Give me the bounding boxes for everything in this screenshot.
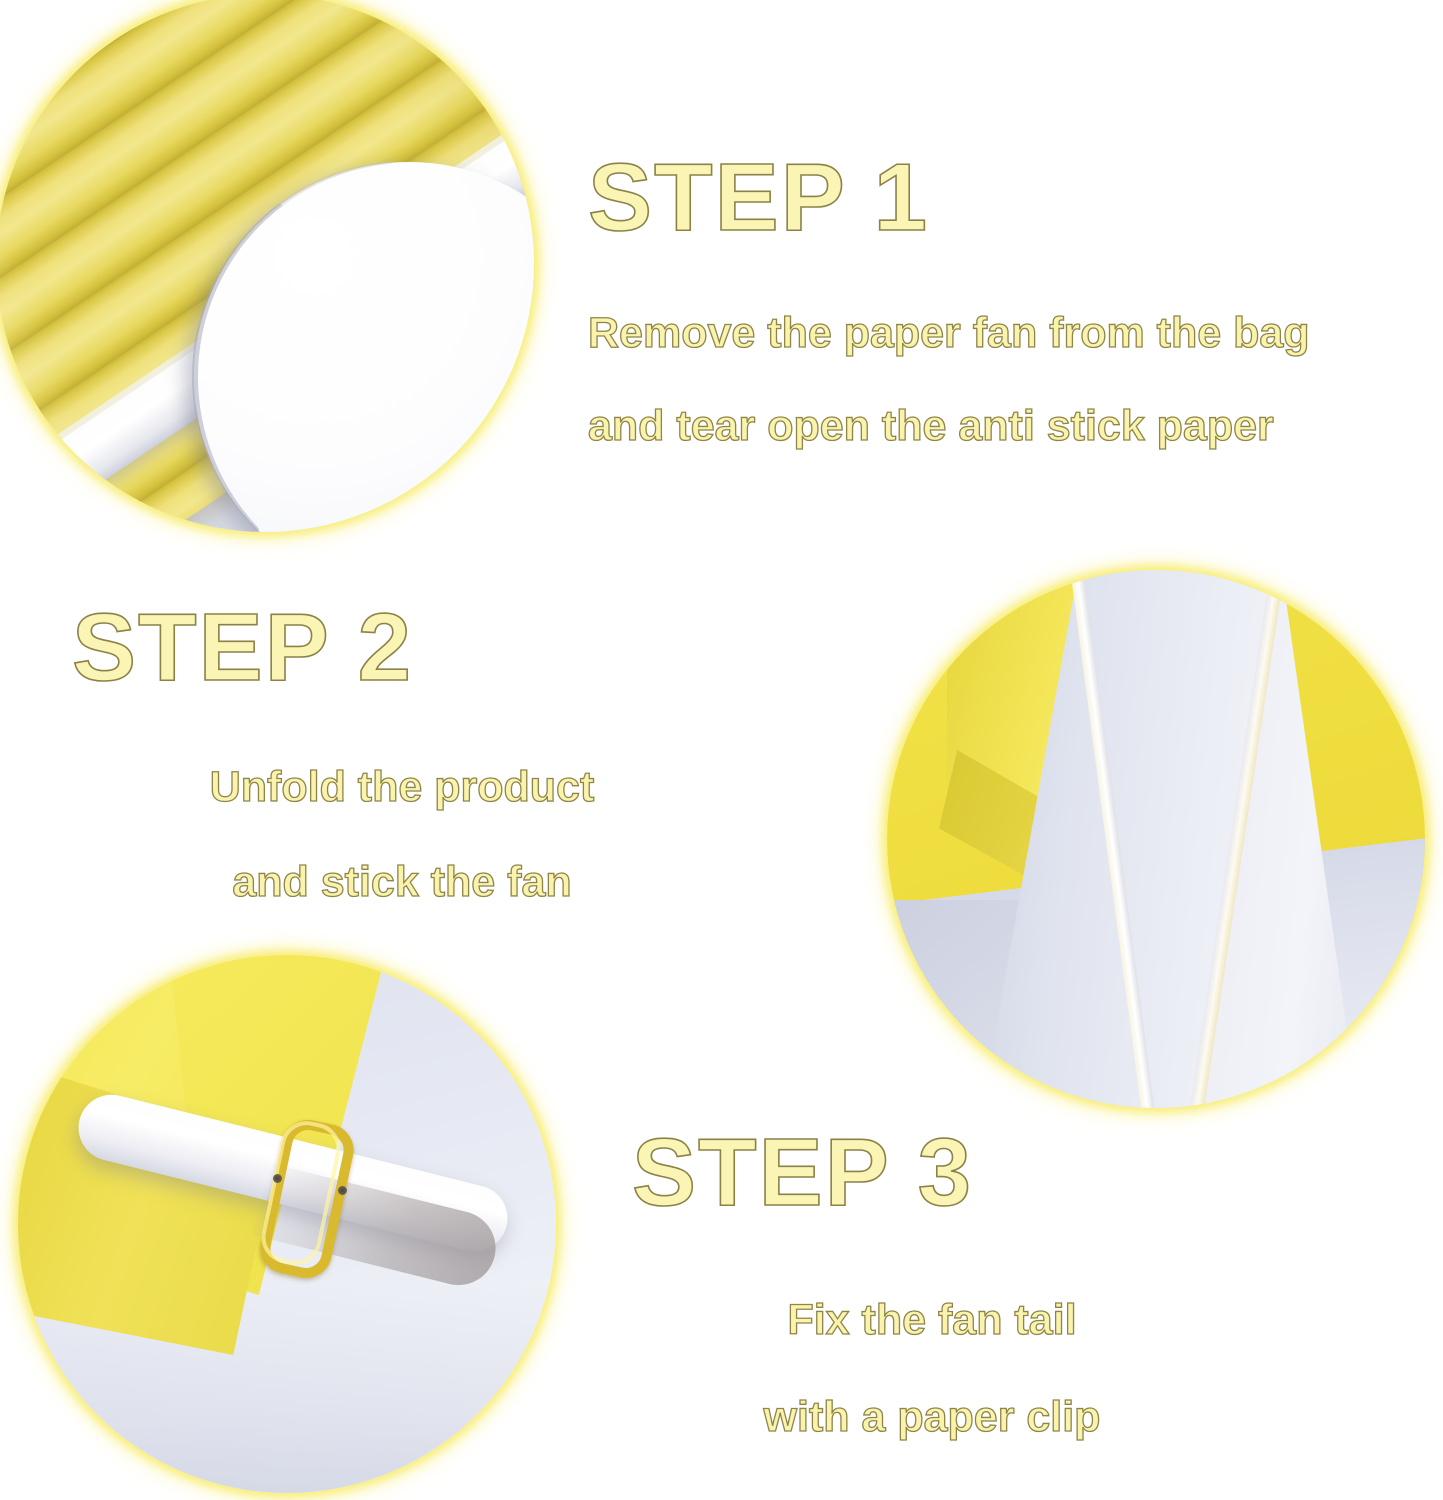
step-2-photo <box>887 570 1425 1108</box>
step-3-title: STEP 3 <box>632 1125 1232 1221</box>
step-3-line-2: with a paper clip <box>632 1396 1232 1439</box>
step-2-text-block: STEP 2 Unfold the product and stick the … <box>72 600 732 904</box>
step-1-photo-content <box>0 0 534 532</box>
step-3-text-block: STEP 3 Fix the fan tail with a paper cli… <box>632 1125 1232 1439</box>
step-1-line-2: and tear open the anti stick paper <box>588 405 1310 448</box>
step-1-title: STEP 1 <box>588 150 1310 246</box>
step-2-title: STEP 2 <box>72 600 732 696</box>
tail-screw-dot-left <box>273 1174 282 1183</box>
step-1-text-block: STEP 1 Remove the paper fan from the bag… <box>588 150 1310 448</box>
step-1-line-1: Remove the paper fan from the bag <box>588 312 1310 355</box>
infographic-canvas: STEP 1 Remove the paper fan from the bag… <box>0 0 1443 1500</box>
step-1-photo <box>0 0 534 532</box>
step-2-photo-content <box>887 570 1425 1108</box>
step-2-line-2: and stick the fan <box>72 861 732 904</box>
step-3-line-1: Fix the fan tail <box>632 1299 1232 1342</box>
step-2-line-1: Unfold the product <box>72 766 732 809</box>
step-3-photo-content <box>18 955 556 1493</box>
step-3-photo <box>18 955 556 1493</box>
tail-screw-dot-right <box>338 1186 347 1195</box>
